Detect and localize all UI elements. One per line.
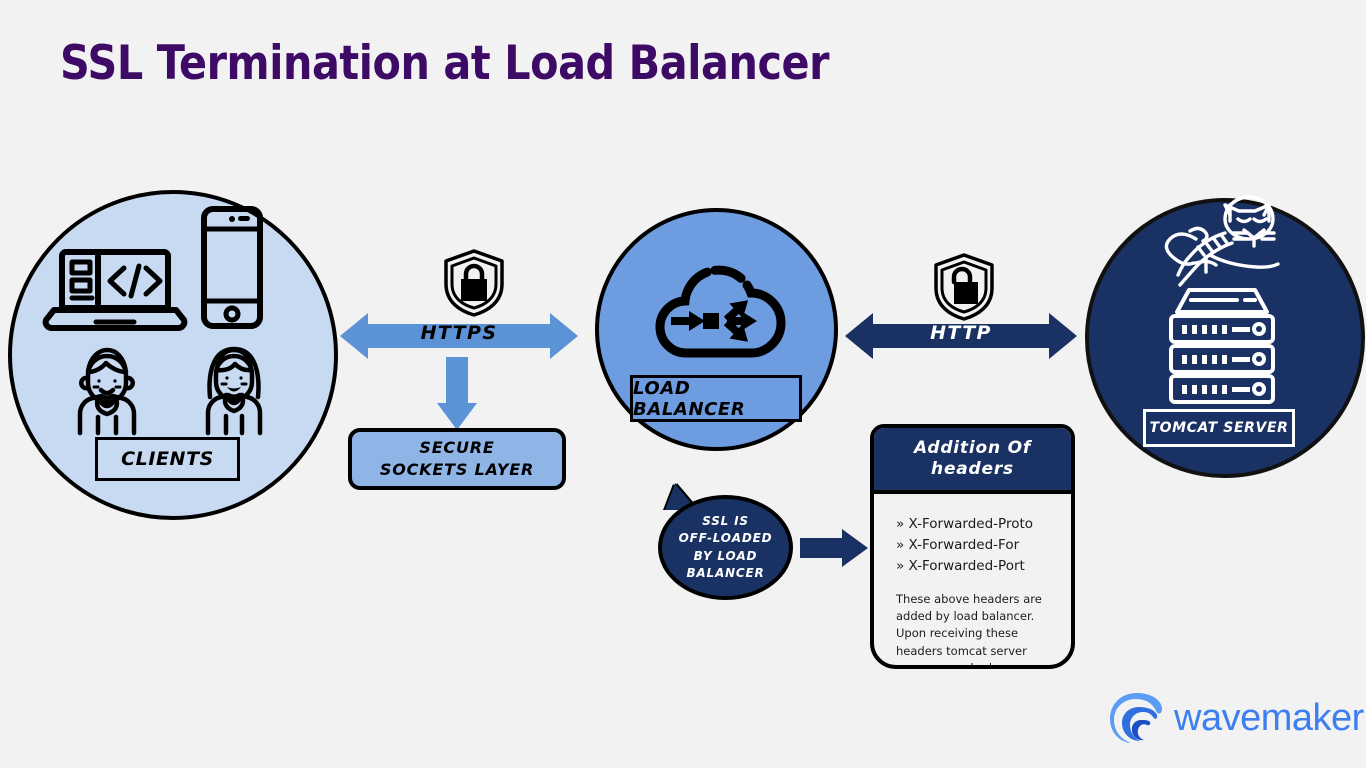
clients-label: CLIENTS (95, 437, 240, 481)
headers-panel-body: » X-Forwarded-Proto » X-Forwarded-For » … (874, 494, 1071, 669)
arrow-head-down (437, 403, 477, 430)
page-title: SSL Termination at Load Balancer (60, 36, 829, 91)
ssl-line-1: SECURE (419, 437, 494, 459)
wavemaker-branding: wavemaker (1108, 690, 1364, 746)
https-to-ssl-arrow (437, 357, 477, 430)
ssl-line-2: SOCKETS LAYER (380, 459, 534, 481)
list-item: » X-Forwarded-Proto (896, 514, 1071, 535)
tomcat-server-label: TOMCAT SERVER (1143, 409, 1295, 447)
cloud-distribute-icon (645, 255, 793, 365)
ssl-offload-bubble: SSL IS OFF-LOADED BY LOAD BALANCER (658, 495, 793, 600)
server-rack-icon (1163, 280, 1281, 405)
shield-lock-closed-icon (442, 248, 506, 318)
bubble-line-2: OFF-LOADED (679, 530, 773, 547)
https-label: HTTPS (340, 322, 578, 344)
shield-lock-open-icon (932, 252, 996, 322)
bubble-to-headers-arrow (800, 529, 868, 567)
arrow-shaft (800, 538, 844, 558)
arrow-shaft (446, 357, 468, 405)
wavemaker-wave-icon (1108, 690, 1166, 746)
bubble-line-4: BALANCER (679, 565, 773, 582)
laptop-code-icon (50, 240, 180, 340)
headers-panel-title: Addition Of headers (874, 428, 1071, 494)
headers-title-line-2: headers (931, 459, 1014, 480)
user-female-icon (194, 342, 274, 435)
smartphone-icon (200, 205, 264, 330)
diagram-canvas: SSL Termination at Load Balancer (0, 0, 1366, 768)
wavemaker-wordmark: wavemaker (1174, 697, 1364, 740)
secure-sockets-layer-box: SECURE SOCKETS LAYER (348, 428, 566, 490)
tomcat-cat-icon (1152, 203, 1284, 291)
bubble-line-3: BY LOAD (679, 548, 773, 565)
list-item: » X-Forwarded-Port (896, 556, 1071, 577)
http-arrow: HTTP (845, 313, 1077, 359)
https-arrow: HTTPS (340, 313, 578, 359)
addition-of-headers-panel: Addition Of headers » X-Forwarded-Proto … (870, 424, 1075, 669)
headers-note: These above headers are added by load ba… (896, 591, 1056, 669)
arrow-head-right (842, 529, 868, 567)
headers-title-line-1: Addition Of (914, 438, 1031, 459)
http-label: HTTP (845, 322, 1077, 344)
user-male-icon (68, 345, 146, 435)
list-item: » X-Forwarded-For (896, 535, 1071, 556)
load-balancer-label: LOAD BALANCER (630, 375, 802, 422)
bubble-line-1: SSL IS (679, 513, 773, 530)
